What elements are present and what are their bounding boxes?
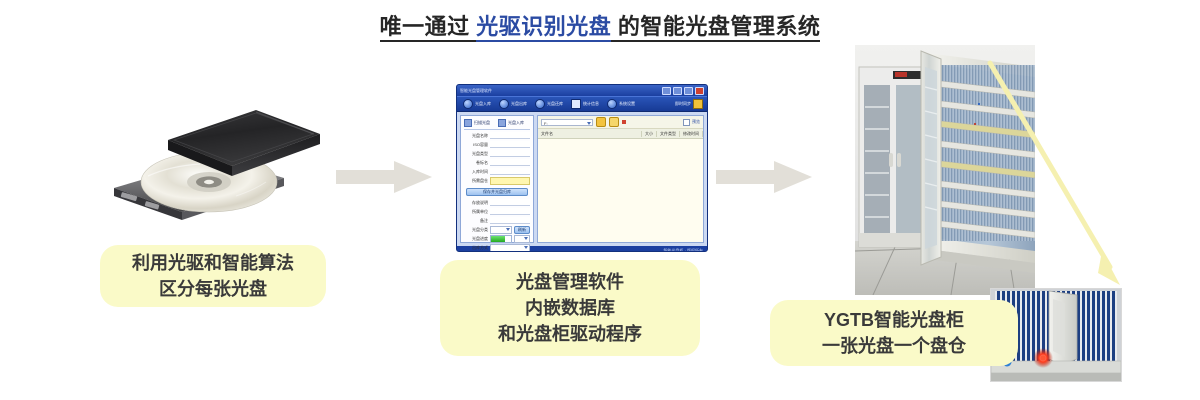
field-required-slot-label: 所需盘仓 bbox=[464, 178, 488, 184]
preview-checkbox-label: 预览 bbox=[692, 119, 700, 125]
slide-canvas: 唯一通过 光驱识别光盘 的智能光盘管理系统 bbox=[0, 0, 1200, 400]
column-type[interactable]: 文件类型 bbox=[657, 131, 680, 137]
toolbar-disc-return[interactable]: 光盘还库 bbox=[531, 98, 567, 110]
cabinet-main-unit bbox=[927, 53, 1035, 273]
field-iso-size[interactable]: ISO容量 bbox=[464, 141, 530, 148]
field-disc-name[interactable]: 光盘名称 bbox=[464, 132, 530, 139]
field-out-mode-label: 出库方式 bbox=[464, 245, 488, 251]
drive-path-select[interactable]: F: bbox=[541, 119, 593, 126]
field-disc-progress: 光盘进度 bbox=[464, 235, 530, 242]
toolbar-settings-label: 系统设置 bbox=[619, 101, 635, 107]
toolbar-sync[interactable]: 即时同步 bbox=[675, 99, 705, 109]
field-in-time-label: 入库时间 bbox=[464, 169, 488, 175]
field-in-time[interactable]: 入库时间 bbox=[464, 168, 530, 175]
disc-cabinet-photo bbox=[855, 45, 1035, 295]
checkbox-box[interactable] bbox=[683, 119, 690, 126]
usb-optical-drive-photo bbox=[108, 100, 323, 220]
toolbar-disc-out[interactable]: 光盘出库 bbox=[495, 98, 531, 110]
minimize-button[interactable] bbox=[662, 87, 671, 95]
close-button[interactable] bbox=[695, 87, 704, 95]
disc-out-icon bbox=[499, 99, 509, 109]
save-and-store-button[interactable]: 保存并光盘归库 bbox=[466, 188, 528, 196]
file-list-header: 文件名 大小 文件类型 修改时间 bbox=[538, 129, 703, 139]
tab-scan-disc[interactable]: 扫描光盘 bbox=[464, 119, 496, 127]
sync-icon bbox=[693, 99, 703, 109]
gear-icon bbox=[607, 99, 617, 109]
preview-checkbox[interactable]: 预览 bbox=[683, 119, 700, 126]
caption-software: 光盘管理软件 内嵌数据库 和光盘柜驱动程序 bbox=[440, 260, 700, 356]
field-out-mode[interactable]: 出库方式 bbox=[464, 244, 530, 251]
stop-icon[interactable] bbox=[622, 120, 626, 124]
column-filename[interactable]: 文件名 bbox=[538, 131, 642, 137]
disc-in-icon bbox=[498, 119, 506, 127]
field-owner-unit-label: 所属单位 bbox=[464, 209, 488, 215]
stats-icon bbox=[571, 99, 581, 109]
software-toolbar[interactable]: 光盘入库 光盘出库 光盘还库 统计信息 系统设置 即时同步 bbox=[457, 96, 707, 112]
form-tabs[interactable]: 扫描光盘 光盘入库 bbox=[464, 119, 530, 130]
page-title: 唯一通过 光驱识别光盘 的智能光盘管理系统 bbox=[0, 12, 1200, 42]
field-disc-type[interactable]: 光盘类型 bbox=[464, 150, 530, 157]
cabinet-open-door bbox=[921, 51, 941, 265]
title-highlight: 光驱识别光盘 bbox=[476, 14, 611, 42]
folder-icon[interactable] bbox=[596, 117, 606, 127]
toolbar-disc-out-label: 光盘出库 bbox=[511, 101, 527, 107]
title-part-1: 唯一通过 bbox=[380, 14, 470, 42]
file-browser-toolbar[interactable]: F: 预览 bbox=[538, 116, 703, 129]
open-folder-icon[interactable] bbox=[609, 117, 619, 127]
toolbar-settings[interactable]: 系统设置 bbox=[603, 98, 639, 110]
scan-icon bbox=[464, 119, 472, 127]
toolbar-stats[interactable]: 统计信息 bbox=[567, 98, 603, 110]
field-disc-name-input[interactable] bbox=[490, 132, 530, 139]
field-out-mode-select[interactable] bbox=[490, 244, 530, 252]
caption-cabinet: YGTB智能光盘柜 一张光盘一个盘仓 bbox=[770, 300, 1018, 366]
status-bar-text: 智能光盘柜 · 版权所有 bbox=[663, 248, 703, 253]
arrow-drive-to-software bbox=[336, 160, 434, 194]
field-storage-note-input[interactable] bbox=[490, 199, 530, 206]
field-iso-size-label: ISO容量 bbox=[464, 142, 488, 148]
column-modified[interactable]: 修改时间 bbox=[680, 131, 703, 137]
column-size[interactable]: 大小 bbox=[642, 131, 657, 137]
toolbar-disc-in-label: 光盘入库 bbox=[475, 101, 491, 107]
title-part-2: 的智能光盘管理系统 bbox=[618, 14, 821, 42]
field-disc-category-label: 光盘分类 bbox=[464, 227, 488, 233]
field-in-time-input[interactable] bbox=[490, 168, 530, 175]
toolbar-sync-label: 即时同步 bbox=[675, 101, 691, 107]
field-disc-name-label: 光盘名称 bbox=[464, 133, 488, 139]
field-required-slot-input[interactable] bbox=[490, 177, 530, 185]
field-volume-label[interactable]: 卷标名 bbox=[464, 159, 530, 166]
disc-management-software-window[interactable]: 智能光盘管理软件 光盘入库 光盘出库 光盘还库 bbox=[456, 84, 708, 252]
toolbar-disc-return-label: 光盘还库 bbox=[547, 101, 563, 107]
field-required-slot[interactable]: 所需盘仓 bbox=[464, 177, 530, 184]
field-volume-label-input[interactable] bbox=[490, 159, 530, 166]
progress-bar bbox=[490, 235, 512, 243]
field-disc-type-input[interactable] bbox=[490, 150, 530, 157]
field-disc-progress-label: 光盘进度 bbox=[464, 236, 488, 242]
toolbar-disc-in[interactable]: 光盘入库 bbox=[459, 98, 495, 110]
field-volume-label-label: 卷标名 bbox=[464, 160, 488, 166]
restore-button[interactable] bbox=[673, 87, 682, 95]
tab-disc-in[interactable]: 光盘入库 bbox=[498, 119, 530, 127]
software-form-panel[interactable]: 扫描光盘 光盘入库 光盘名称 ISO容量 光盘类型 bbox=[460, 115, 534, 243]
caption-drive: 利用光驱和智能算法 区分每张光盘 bbox=[100, 245, 326, 307]
tab-scan-disc-label: 扫描光盘 bbox=[474, 120, 490, 126]
field-storage-note-label: 存放说明 bbox=[464, 200, 488, 206]
toolbar-stats-label: 统计信息 bbox=[583, 101, 599, 107]
file-browser-panel[interactable]: F: 预览 文件名 大小 文件类型 修改时间 bbox=[537, 115, 704, 243]
field-disc-category-select[interactable] bbox=[490, 226, 512, 234]
field-disc-type-label: 光盘类型 bbox=[464, 151, 488, 157]
field-disc-category[interactable]: 光盘分类 刷新 bbox=[464, 226, 530, 233]
field-owner-unit[interactable]: 所属单位 bbox=[464, 208, 530, 215]
window-controls[interactable] bbox=[662, 87, 704, 95]
tab-disc-in-label: 光盘入库 bbox=[508, 120, 524, 126]
field-owner-unit-input[interactable] bbox=[490, 208, 530, 215]
field-remark-input[interactable] bbox=[490, 217, 530, 224]
layer-stepper[interactable] bbox=[514, 235, 530, 243]
field-remark[interactable]: 备注 bbox=[464, 217, 530, 224]
software-body: 扫描光盘 光盘入库 光盘名称 ISO容量 光盘类型 bbox=[457, 112, 707, 246]
file-list-body[interactable] bbox=[538, 139, 703, 242]
arrow-software-to-cabinet bbox=[716, 160, 814, 194]
refresh-button[interactable]: 刷新 bbox=[514, 226, 530, 234]
field-storage-note[interactable]: 存放说明 bbox=[464, 199, 530, 206]
disc-return-icon bbox=[535, 99, 545, 109]
disc-in-icon bbox=[463, 99, 473, 109]
field-iso-size-input[interactable] bbox=[490, 141, 530, 148]
maximize-button[interactable] bbox=[684, 87, 693, 95]
software-window-title: 智能光盘管理软件 bbox=[460, 88, 660, 94]
field-remark-label: 备注 bbox=[464, 218, 488, 224]
software-title-bar: 智能光盘管理软件 bbox=[457, 85, 707, 96]
slot-carriage bbox=[1049, 291, 1077, 365]
